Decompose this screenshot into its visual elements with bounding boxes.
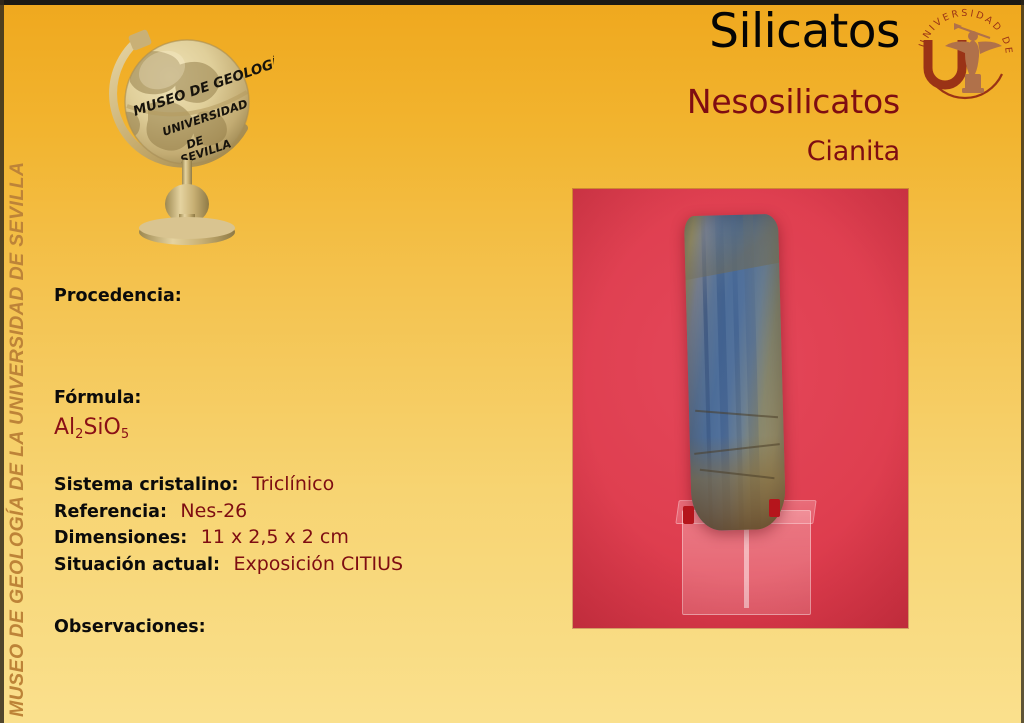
slide-left-border <box>0 0 4 723</box>
procedencia-label: Procedencia: <box>54 286 182 306</box>
page-subtitle: Nesosilicatos <box>687 82 900 121</box>
formula-value: Al2SiO5 <box>54 417 524 439</box>
situacion-actual-value: Exposición CITIUS <box>224 553 403 575</box>
specimen-data-block: Procedencia: Fórmula: Al2SiO5 Sistema cr… <box>54 286 524 637</box>
field-referencia: Referencia: Nes-26 <box>54 502 524 522</box>
specimen-photo <box>573 189 908 628</box>
procedencia-value <box>182 284 191 306</box>
field-procedencia: Procedencia: <box>54 286 524 306</box>
field-dimensiones: Dimensiones: 11 x 2,5 x 2 cm <box>54 528 524 548</box>
mineral-name: Cianita <box>807 136 900 167</box>
field-observaciones: Observaciones: <box>54 617 524 637</box>
university-seal-icon: UNIVERSIDAD DE SEVILLA <box>912 4 1018 110</box>
referencia-value: Nes-26 <box>171 500 247 522</box>
specimen-clip-right <box>769 499 780 517</box>
globe-icon: MUSEO DE GEOLOGÍA UNIVERSIDAD DE SEVILLA <box>104 8 274 250</box>
sistema-cristalino-label: Sistema cristalino: <box>54 475 238 495</box>
referencia-label: Referencia: <box>54 502 167 522</box>
formula-label: Fórmula: <box>54 388 141 408</box>
dimensiones-value: 11 x 2,5 x 2 cm <box>192 526 349 548</box>
observaciones-label: Observaciones: <box>54 617 206 637</box>
situacion-actual-label: Situación actual: <box>54 555 220 575</box>
formula-part-1: Al <box>54 415 75 440</box>
field-formula: Fórmula: <box>54 390 524 408</box>
page-title: Silicatos <box>709 4 900 59</box>
sistema-cristalino-value: Triclínico <box>243 473 334 495</box>
dimensiones-label: Dimensiones: <box>54 528 187 548</box>
photo-vignette <box>573 189 908 628</box>
spacer-before-observaciones <box>54 581 524 617</box>
formula-part-2: SiO <box>83 415 120 440</box>
specimen-clip-left <box>683 506 694 524</box>
field-situacion-actual: Situación actual: Exposición CITIUS <box>54 555 524 575</box>
museum-vertical-banner-text: MUSEO DE GEOLOGÍA DE LA UNIVERSIDAD DE S… <box>6 162 29 717</box>
museum-vertical-banner: MUSEO DE GEOLOGÍA DE LA UNIVERSIDAD DE S… <box>0 0 36 717</box>
slide-canvas: MUSEO DE GEOLOGÍA DE LA UNIVERSIDAD DE S… <box>0 0 1024 723</box>
university-of-seville-logo: UNIVERSIDAD DE SEVILLA <box>912 4 1018 110</box>
slide-top-border <box>0 0 1024 5</box>
observaciones-value <box>206 615 215 637</box>
spacer-procedencia <box>54 306 524 390</box>
formula-subscript-1: 2 <box>75 427 83 442</box>
formula-subscript-2: 5 <box>121 427 129 442</box>
museum-globe-logo: MUSEO DE GEOLOGÍA UNIVERSIDAD DE SEVILLA <box>104 8 274 250</box>
field-sistema-cristalino: Sistema cristalino: Triclínico <box>54 475 524 495</box>
spacer-after-formula <box>54 439 524 475</box>
